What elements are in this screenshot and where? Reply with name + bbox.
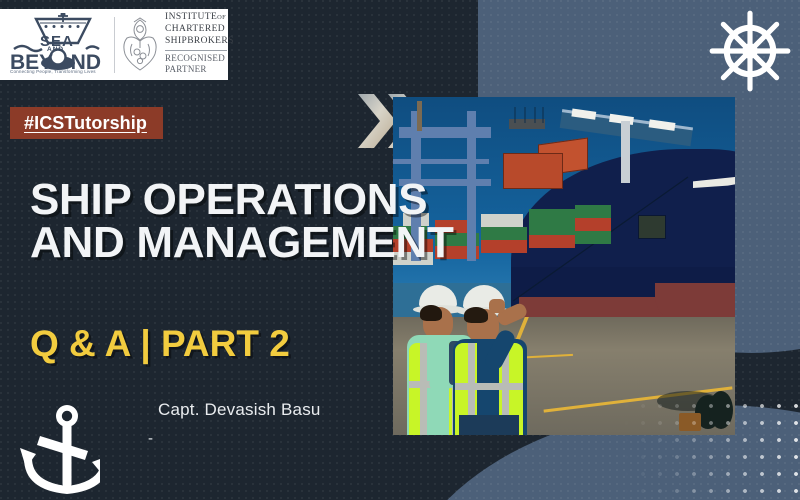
anchor-icon (18, 402, 100, 498)
poster-canvas: SEA AND BEY ND Connecting People, Transf… (0, 0, 800, 500)
title-line-2: AND MANAGEMENT (30, 221, 410, 264)
logo-divider (114, 17, 115, 73)
ics-line-recognised: RECOGNISED (165, 54, 234, 63)
logo-bar: SEA AND BEY ND Connecting People, Transf… (0, 9, 228, 80)
ics-line-shipbrokers: SHIPBROKERS (165, 37, 234, 47)
ics-partner-logo: INSTITUTEOF CHARTERED SHIPBROKERS RECOGN… (120, 13, 234, 76)
presenter-dash: - (148, 430, 153, 447)
subtitle: Q & A | PART 2 (30, 325, 290, 362)
ics-rule (165, 50, 227, 51)
ics-line-chartered: CHARTERED (165, 25, 234, 35)
ships-wheel-icon (707, 8, 793, 94)
hashtag-banner: #ICSTutorship (10, 107, 163, 139)
ics-crest-icon (120, 16, 160, 74)
presenter-name: Capt. Devasish Basu (158, 400, 321, 420)
title-line-1: SHIP OPERATIONS (30, 178, 410, 221)
sea-and-beyond-logo: SEA AND BEY ND Connecting People, Transf… (4, 13, 112, 77)
ics-line-institute: INSTITUTEOF (165, 13, 234, 23)
hashtag-label: #ICSTutorship (24, 113, 147, 134)
logo-tagline: Connecting People, Transforming Lives (10, 69, 96, 74)
page-title: SHIP OPERATIONS AND MANAGEMENT (30, 178, 410, 264)
ics-line-partner: PARTNER (165, 65, 234, 74)
